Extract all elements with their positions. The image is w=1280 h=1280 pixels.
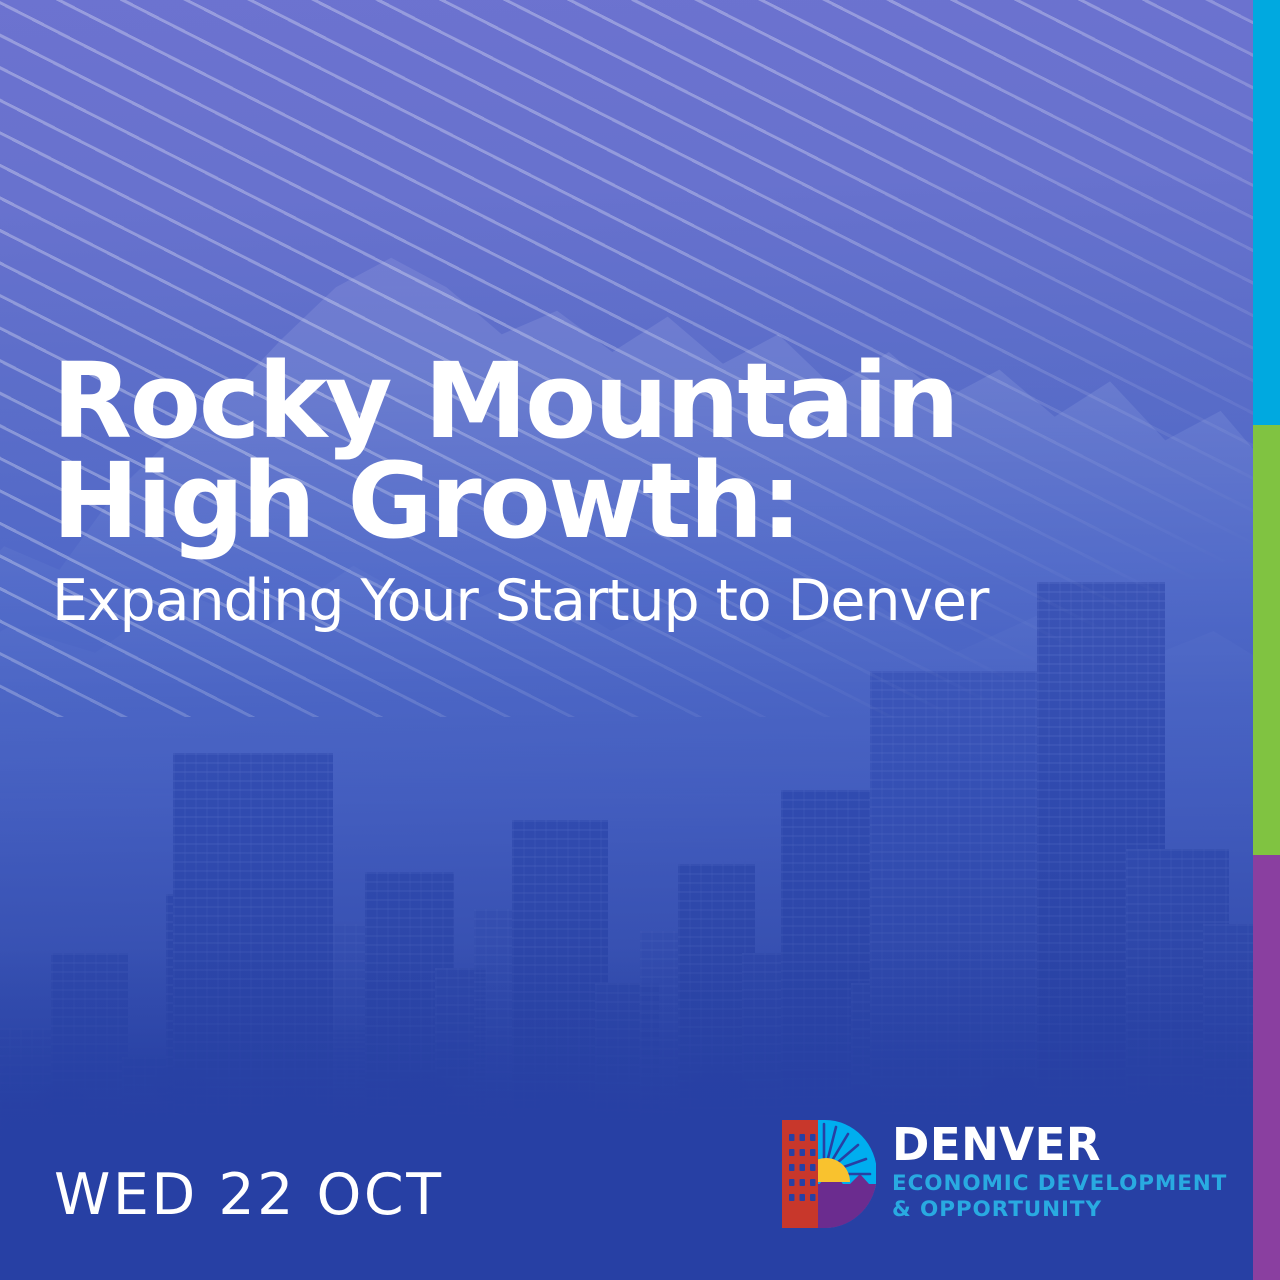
logo-text-block: DENVER ECONOMIC DEVELOPMENT & OPPORTUNIT…	[892, 1122, 1227, 1225]
page-title-line-1: Rocky Mountain	[52, 352, 1212, 452]
event-date: WED 22 OCT	[54, 1162, 444, 1228]
denver-d-logo-icon	[778, 1118, 876, 1230]
title-block: Rocky Mountain High Growth: Expanding Yo…	[52, 352, 1212, 632]
page-subtitle: Expanding Your Startup to Denver	[52, 572, 1212, 632]
logo-tagline-line-2: & OPPORTUNITY	[892, 1197, 1227, 1223]
denver-edo-logo: DENVER ECONOMIC DEVELOPMENT & OPPORTUNIT…	[778, 1118, 1227, 1230]
logo-wordmark: DENVER	[892, 1122, 1227, 1168]
poster-content: Rocky Mountain High Growth: Expanding Yo…	[0, 0, 1280, 1280]
logo-tagline: ECONOMIC DEVELOPMENT & OPPORTUNITY	[892, 1171, 1227, 1223]
page-title-line-2: High Growth:	[52, 452, 1212, 552]
logo-tagline-line-1: ECONOMIC DEVELOPMENT	[892, 1171, 1227, 1197]
event-poster: Rocky Mountain High Growth: Expanding Yo…	[0, 0, 1280, 1280]
